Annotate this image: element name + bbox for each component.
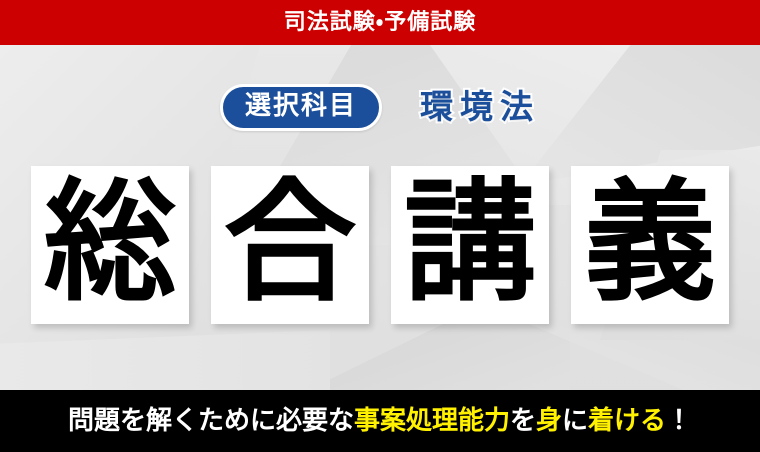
- footer-segment: 問題を解くために必要な: [68, 406, 354, 436]
- kanji-tile: 総: [31, 166, 189, 324]
- subject-row: 選択科目 環境法: [0, 84, 760, 131]
- header-title: 司法試験・予備試験: [284, 12, 476, 34]
- subject-name-label: 環境法: [420, 90, 540, 125]
- kanji-tile: 合: [211, 166, 369, 324]
- footer-tagline: 問題を解くために必要な事案処理能力を身に着ける！: [68, 408, 692, 434]
- kanji-tile: 義: [571, 166, 729, 324]
- header-bar: 司法試験・予備試験: [0, 0, 760, 45]
- elective-subject-badge: 選択科目: [220, 84, 382, 131]
- footer-segment: を: [510, 406, 536, 436]
- promotional-banner: 司法試験・予備試験 選択科目 環境法 総 合 講 義 問題を解くために必要な事案…: [0, 0, 760, 452]
- footer-segment: に: [562, 406, 588, 436]
- footer-segment-highlight: 身: [536, 406, 562, 436]
- kanji-tile: 講: [391, 166, 549, 324]
- footer-bar: 問題を解くために必要な事案処理能力を身に着ける！: [0, 390, 760, 452]
- kanji-tile-char: 合: [224, 177, 356, 309]
- footer-segment-highlight: 着ける: [588, 406, 666, 436]
- kanji-tile-char: 講: [404, 177, 536, 309]
- kanji-tile-char: 義: [584, 177, 716, 309]
- kanji-tile-char: 総: [44, 177, 176, 309]
- course-title-tiles: 総 合 講 義: [0, 166, 760, 324]
- footer-segment: ！: [666, 406, 692, 436]
- footer-segment-highlight: 事案処理能力: [354, 406, 510, 436]
